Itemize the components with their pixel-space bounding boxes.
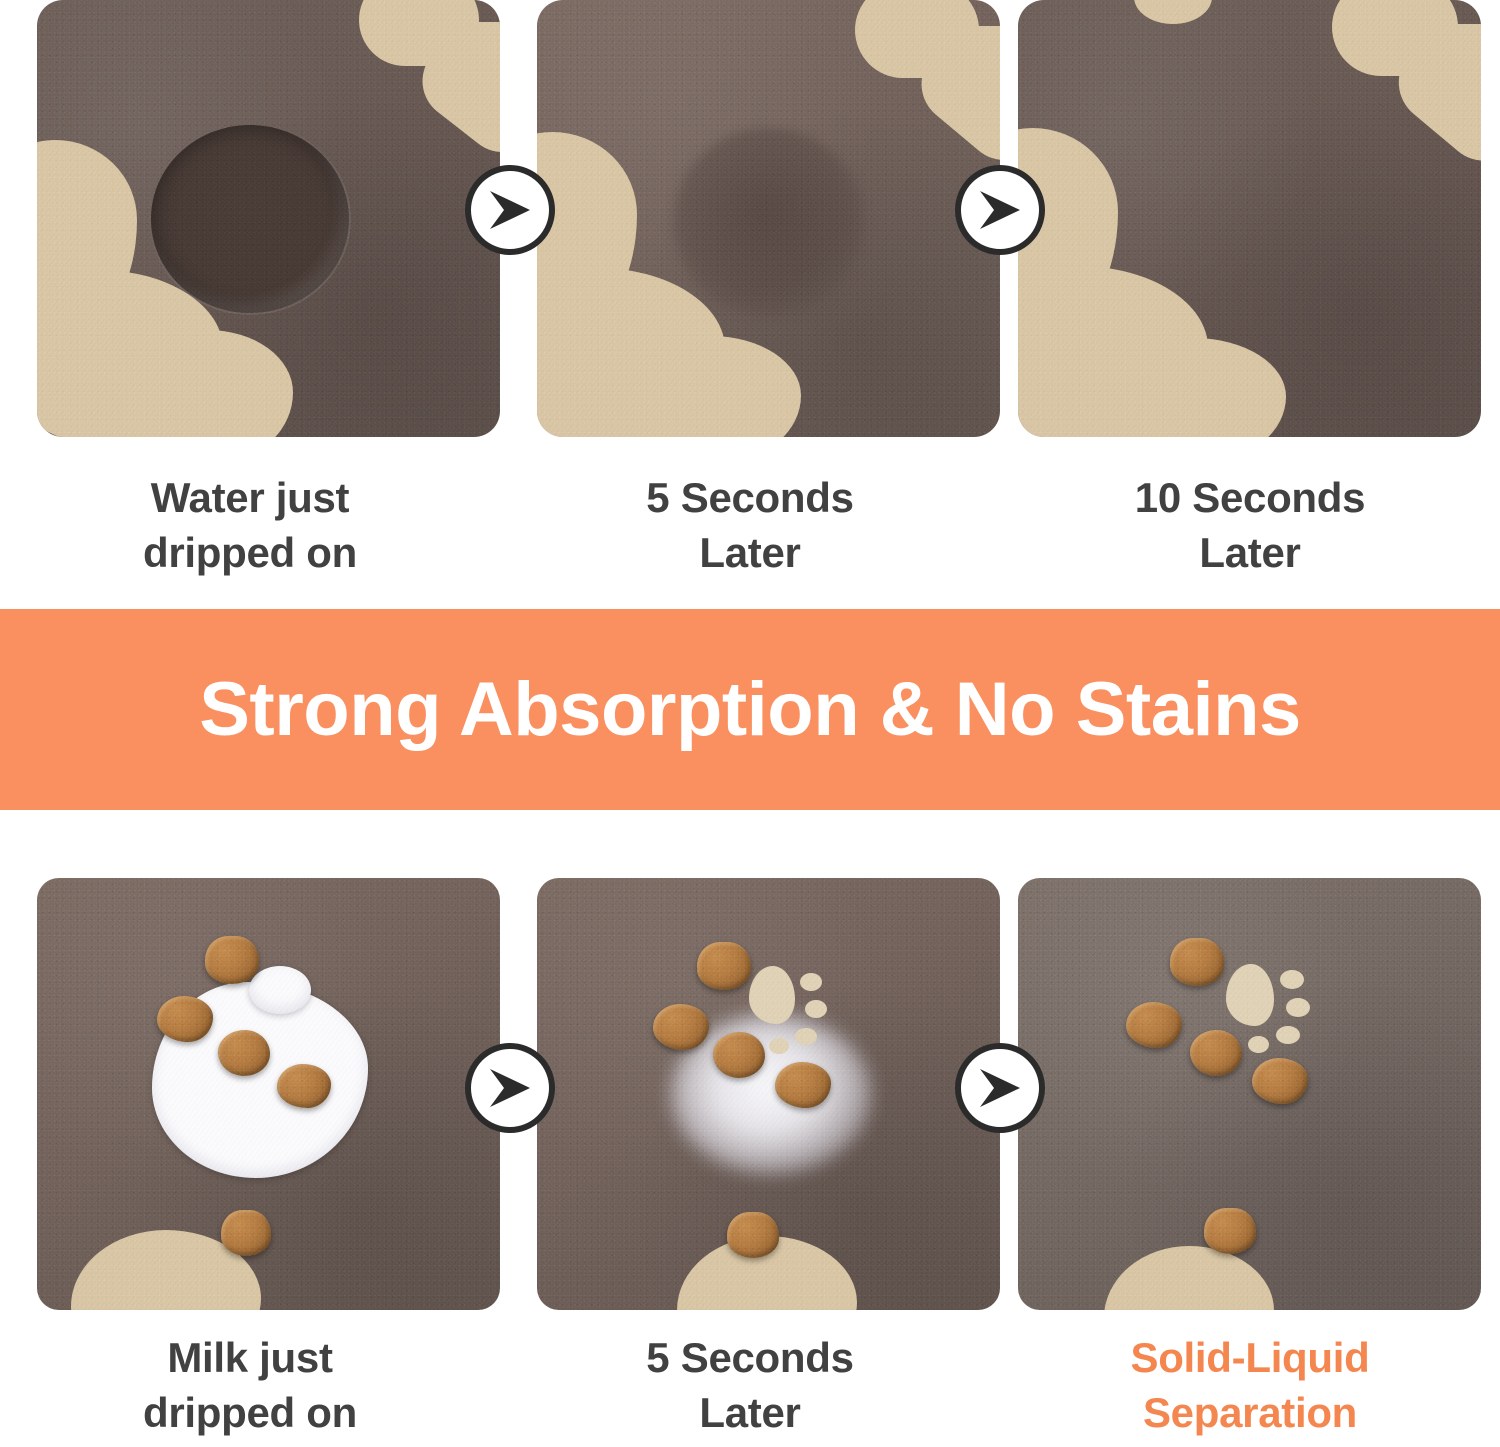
water-absorption-row: Water just dripped on — [0, 0, 1500, 600]
caption-line-2: Later — [500, 1385, 1000, 1440]
caption-line-1: 5 Seconds — [500, 470, 1000, 525]
arrow-right-icon — [465, 1043, 555, 1133]
mat-photo-milk-fresh — [37, 878, 500, 1310]
caption-line-1: Water just — [0, 470, 500, 525]
caption-milk-fresh: Milk just dripped on — [0, 1330, 500, 1441]
caption-line-1: 5 Seconds — [500, 1330, 1000, 1385]
milk-panel-3-column: Solid-Liquid Separation — [1000, 875, 1500, 1447]
milk-separation-row: Milk just dripped on — [0, 875, 1500, 1447]
caption-water-fresh: Water just dripped on — [0, 470, 500, 581]
infographic-page: Water just dripped on — [0, 0, 1500, 1447]
mat-photo-milk-absorbing — [537, 878, 1000, 1310]
arrow-right-icon — [465, 165, 555, 255]
caption-line-1: 10 Seconds — [1000, 470, 1500, 525]
caption-line-2: dripped on — [0, 1385, 500, 1440]
mat-fiber-overlay — [1018, 878, 1481, 1310]
water-panel-3-column: 10 Seconds Later — [1000, 0, 1500, 600]
mat-fiber-overlay — [37, 878, 500, 1310]
caption-water-5s: 5 Seconds Later — [500, 470, 1000, 581]
caption-line-2: Separation — [1000, 1385, 1500, 1440]
banner-title: Strong Absorption & No Stains — [199, 672, 1301, 748]
mat-photo-water-fresh — [37, 0, 500, 437]
water-panel-2-column: 5 Seconds Later — [500, 0, 1000, 600]
caption-line-1: Solid-Liquid — [1000, 1330, 1500, 1385]
water-panel-1-column: Water just dripped on — [0, 0, 500, 600]
mat-fiber-overlay — [537, 0, 1000, 437]
caption-water-10s: 10 Seconds Later — [1000, 470, 1500, 581]
milk-panel-1-column: Milk just dripped on — [0, 875, 500, 1447]
arrow-right-icon — [955, 1043, 1045, 1133]
caption-line-2: Later — [1000, 525, 1500, 580]
caption-line-1: Milk just — [0, 1330, 500, 1385]
caption-milk-separation: Solid-Liquid Separation — [1000, 1330, 1500, 1441]
mat-photo-milk-separated — [1018, 878, 1481, 1310]
mat-photo-water-fading — [537, 0, 1000, 437]
mat-fiber-overlay — [1018, 0, 1481, 437]
mat-photo-water-dry — [1018, 0, 1481, 437]
headline-banner: Strong Absorption & No Stains — [0, 609, 1500, 810]
milk-panel-2-column: 5 Seconds Later — [500, 875, 1000, 1447]
caption-line-2: Later — [500, 525, 1000, 580]
caption-milk-5s: 5 Seconds Later — [500, 1330, 1000, 1441]
caption-line-2: dripped on — [0, 525, 500, 580]
mat-fiber-overlay — [37, 0, 500, 437]
arrow-right-icon — [955, 165, 1045, 255]
mat-fiber-overlay — [537, 878, 1000, 1310]
